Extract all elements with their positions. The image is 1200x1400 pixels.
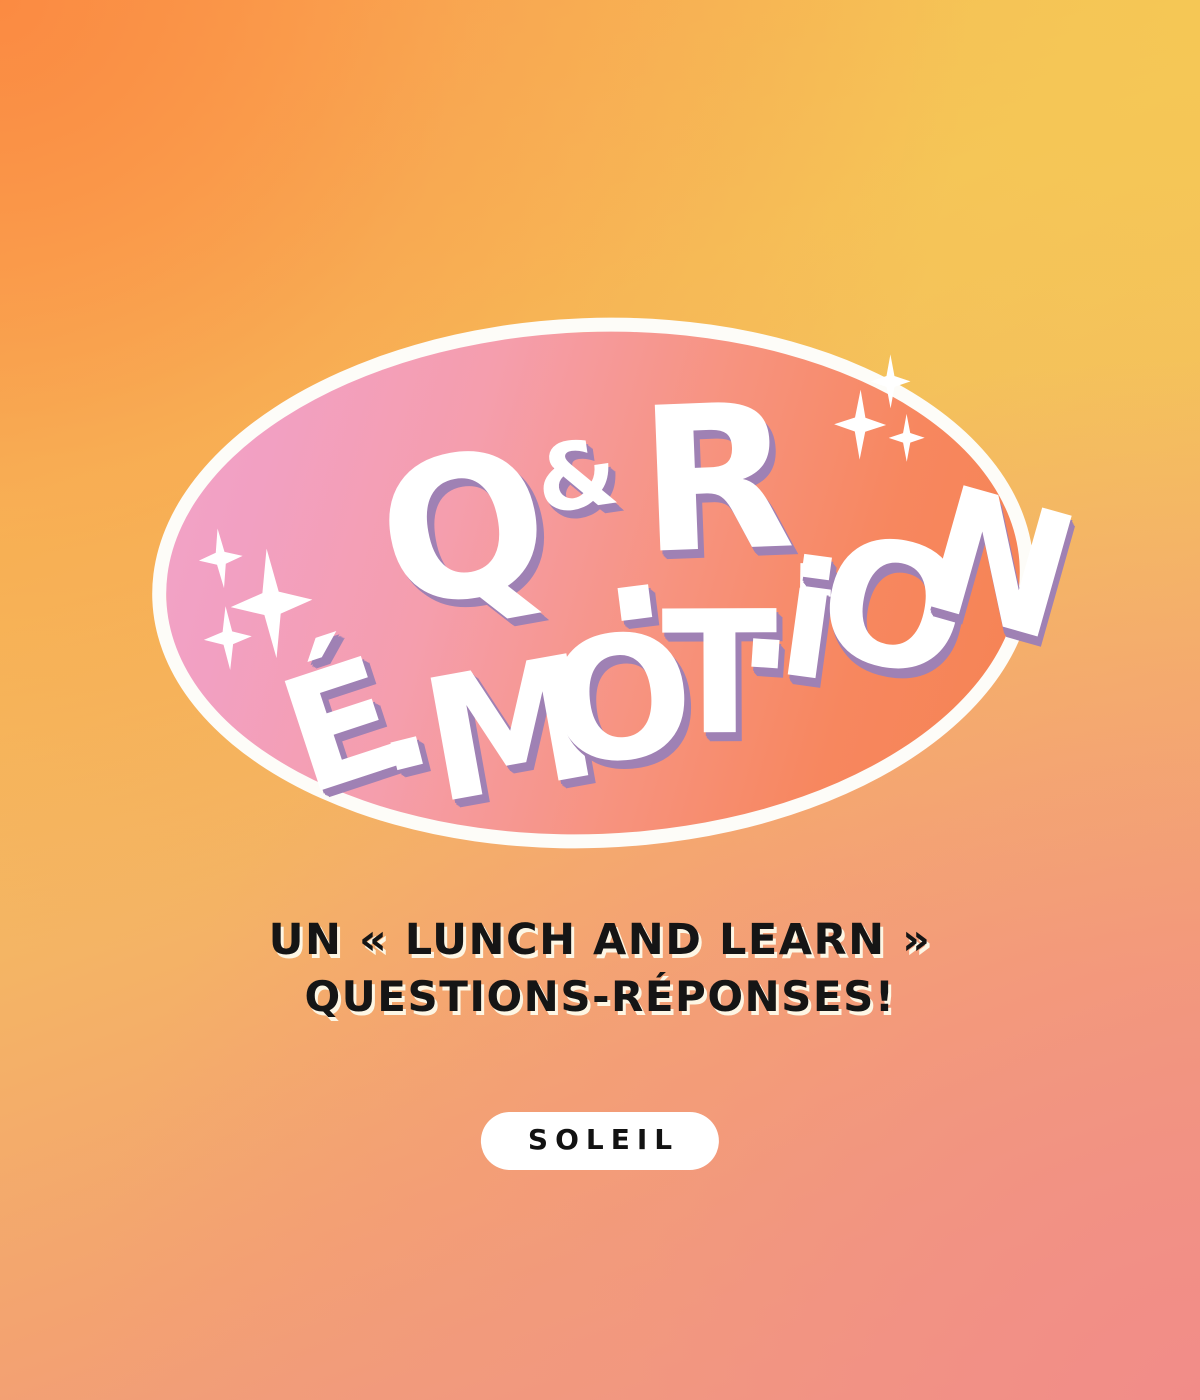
subtitle-line-2: QUESTIONS-RÉPONSES! [0, 969, 1200, 1024]
logo-badge: Q & . R . É · M O T · i O N [142, 301, 1044, 864]
logo-line-emotion: É · M O T · i O N [263, 537, 1031, 796]
subtitle-block: UN « LUNCH AND LEARN » QUESTIONS-RÉPONSE… [0, 912, 1200, 1024]
subtitle-line-1: UN « LUNCH AND LEARN » [0, 912, 1200, 969]
poster-canvas: Q & . R . É · M O T · i O N UN « LUNCH A… [0, 0, 1200, 1400]
soleil-badge[interactable]: SOLEIL [481, 1112, 719, 1170]
